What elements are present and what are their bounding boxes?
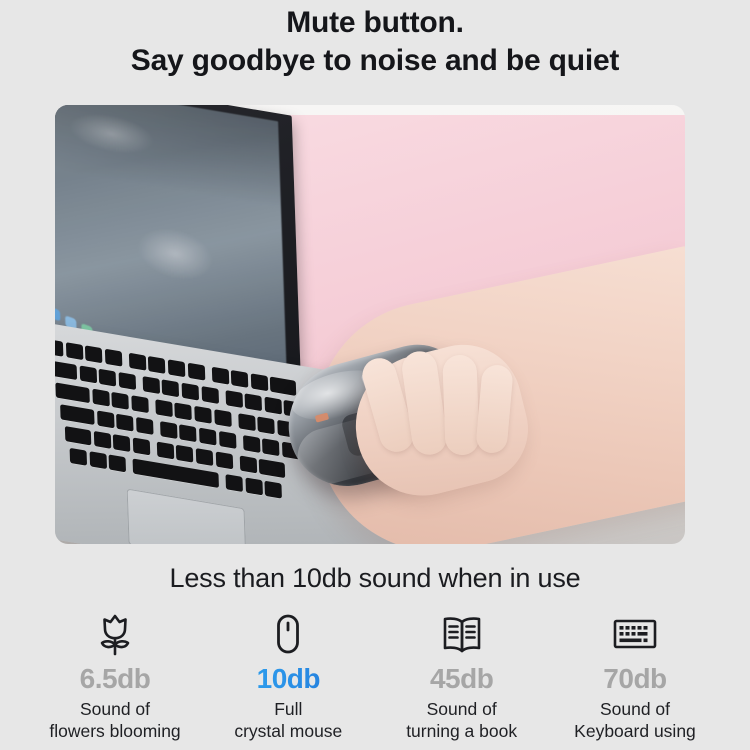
laptop-trackpad bbox=[127, 488, 247, 544]
flower-icon bbox=[35, 608, 195, 660]
finger bbox=[442, 354, 479, 455]
product-photo bbox=[55, 105, 685, 544]
decibel-value: 70db bbox=[555, 663, 715, 695]
comparison-item-book: 45db Sound of turning a book bbox=[382, 608, 542, 742]
mouse-icon bbox=[208, 608, 368, 660]
mouse-connector bbox=[315, 413, 329, 423]
comparison-caption: Sound of flowers blooming bbox=[35, 698, 195, 742]
decibel-comparison-row: 6.5db Sound of flowers blooming 10db Ful… bbox=[35, 608, 715, 742]
comparison-caption: Sound of Keyboard using bbox=[555, 698, 715, 742]
headline-line-2: Say goodbye to noise and be quiet bbox=[0, 42, 750, 80]
book-icon bbox=[382, 608, 542, 660]
keyboard-icon bbox=[555, 608, 715, 660]
headline-line-1: Mute button. bbox=[0, 4, 750, 42]
headline: Mute button. Say goodbye to noise and be… bbox=[0, 4, 750, 80]
comparison-caption: Sound of turning a book bbox=[382, 698, 542, 742]
laptop-keyboard bbox=[55, 339, 312, 510]
comparison-item-keyboard: 70db Sound of Keyboard using bbox=[555, 608, 715, 742]
decibel-value: 6.5db bbox=[35, 663, 195, 695]
subtitle: Less than 10db sound when in use bbox=[0, 561, 750, 595]
decibel-value: 45db bbox=[382, 663, 542, 695]
comparison-item-flower: 6.5db Sound of flowers blooming bbox=[35, 608, 195, 742]
comparison-item-mouse: 10db Full crystal mouse bbox=[208, 608, 368, 742]
decibel-value: 10db bbox=[208, 663, 368, 695]
product-feature-card: Mute button. Say goodbye to noise and be… bbox=[0, 0, 750, 750]
comparison-caption: Full crystal mouse bbox=[208, 698, 368, 742]
